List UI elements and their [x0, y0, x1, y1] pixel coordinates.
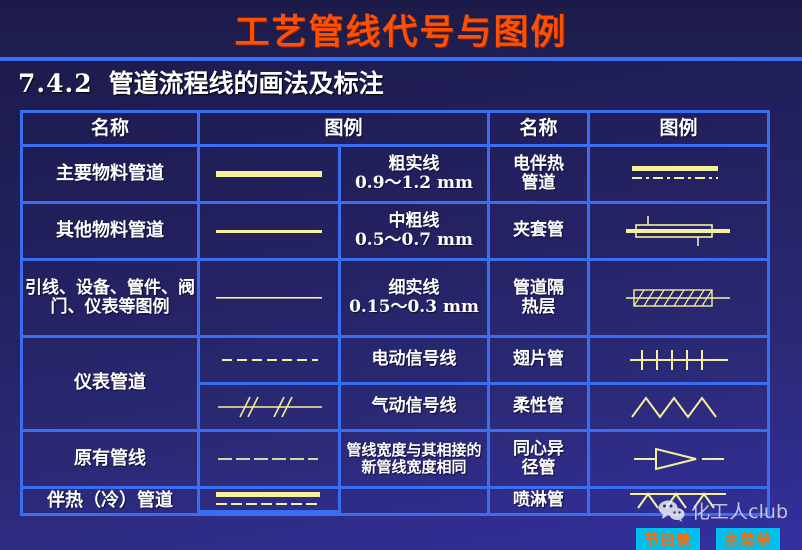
legend-table: 名称 图例 名称 图例 主要物料管道 粗实线 0.9～1.2 mm 电伴热 管道… — [20, 110, 770, 516]
row-name-finned-tube: 翅片管 — [490, 338, 590, 385]
title-banner: 工艺管线代号与图例 — [0, 0, 802, 57]
slide-canvas: 工艺管线代号与图例 7.4.2管道流程线的画法及标注 名称 图例 名称 图例 主… — [0, 0, 802, 550]
name-line2: 管道 — [522, 174, 556, 193]
row-name-spray-pipe: 喷淋管 — [490, 489, 590, 513]
symbol-thin-solid-line — [200, 261, 341, 338]
desc-heat-traced-pipe — [341, 489, 490, 513]
symbol-concentric-reducer — [590, 432, 767, 489]
desc-line2: 新管线宽度相同 — [361, 459, 466, 476]
table-header-name-right: 名称 — [490, 113, 590, 147]
row-name-heat-traced-pipe: 伴热（冷）管道 — [23, 489, 200, 513]
symbol-flexible-pipe — [590, 385, 767, 432]
symbol-long-dash-line — [200, 432, 341, 489]
desc-existing-pipe-width: 管线宽度与其相接的 新管线宽度相同 — [341, 432, 490, 489]
desc-line1: 中粗线 — [389, 212, 440, 231]
name-line1: 管道隔 — [513, 279, 564, 298]
symbol-spray-pipe — [590, 489, 767, 513]
desc-line1: 管线宽度与其相接的 — [346, 442, 481, 459]
section-heading: 7.4.2管道流程线的画法及标注 — [18, 64, 384, 100]
symbol-finned-tube — [590, 338, 767, 385]
symbol-thick-solid-line — [200, 147, 341, 204]
menu-button[interactable]: 主菜单 — [716, 528, 780, 550]
row-name-instrument-pipe: 仪表管道 — [23, 338, 200, 432]
row-name-concentric-reducer: 同心异 径管 — [490, 432, 590, 489]
row-name-pipe-insulation-layer: 管道隔 热层 — [490, 261, 590, 338]
desc-thick-solid-line: 粗实线 0.9～1.2 mm — [341, 147, 490, 204]
page-title: 工艺管线代号与图例 — [0, 4, 802, 55]
section-number: 7.4.2 — [18, 69, 93, 98]
title-divider — [0, 57, 802, 61]
desc-line2: 0.15～0.3 mm — [349, 298, 479, 317]
name-line1: 电伴热 — [513, 155, 564, 174]
symbol-pipe-insulation-layer — [590, 261, 767, 338]
name-line2: 径管 — [522, 459, 556, 478]
symbol-jacketed-pipe — [590, 204, 767, 261]
desc-pneumatic-signal-line: 气动信号线 — [341, 385, 490, 432]
desc-line1: 粗实线 — [389, 155, 440, 174]
row-name-electric-trace-heated-pipe: 电伴热 管道 — [490, 147, 590, 204]
name-line2: 热层 — [522, 298, 556, 317]
row-name-main-material-pipe: 主要物料管道 — [23, 147, 200, 204]
desc-line1: 细实线 — [389, 279, 440, 298]
table-header-legend-right: 图例 — [590, 113, 767, 147]
symbol-medium-solid-line — [200, 204, 341, 261]
table-header-name-left: 名称 — [23, 113, 200, 147]
desc-electric-signal-line: 电动信号线 — [341, 338, 490, 385]
row-name-existing-pipe: 原有管线 — [23, 432, 200, 489]
symbol-dashed-line — [200, 338, 341, 385]
section-title: 管道流程线的画法及标注 — [109, 69, 384, 98]
row-name-flexible-pipe: 柔性管 — [490, 385, 590, 432]
desc-thin-solid-line: 细实线 0.15～0.3 mm — [341, 261, 490, 338]
name-line1: 夹套管 — [513, 221, 564, 240]
name-line1: 同心异 — [513, 440, 564, 459]
symbol-solid-over-dashed-line — [200, 489, 341, 513]
desc-line2: 0.5～0.7 mm — [355, 231, 473, 250]
table-header-legend-left: 图例 — [200, 113, 490, 147]
desc-line2: 0.9～1.2 mm — [355, 174, 473, 193]
row-name-other-material-pipe: 其他物料管道 — [23, 204, 200, 261]
symbol-double-slash-line — [200, 385, 341, 432]
row-name-jacketed-pipe: 夹套管 — [490, 204, 590, 261]
row-name-leader-equipment-fitting: 引线、设备、管件、阀门、仪表等图例 — [23, 261, 200, 338]
desc-medium-solid-line: 中粗线 0.5～0.7 mm — [341, 204, 490, 261]
symbol-electric-trace-heated-pipe — [590, 147, 767, 204]
catalog-button[interactable]: 节目录 — [636, 528, 700, 550]
